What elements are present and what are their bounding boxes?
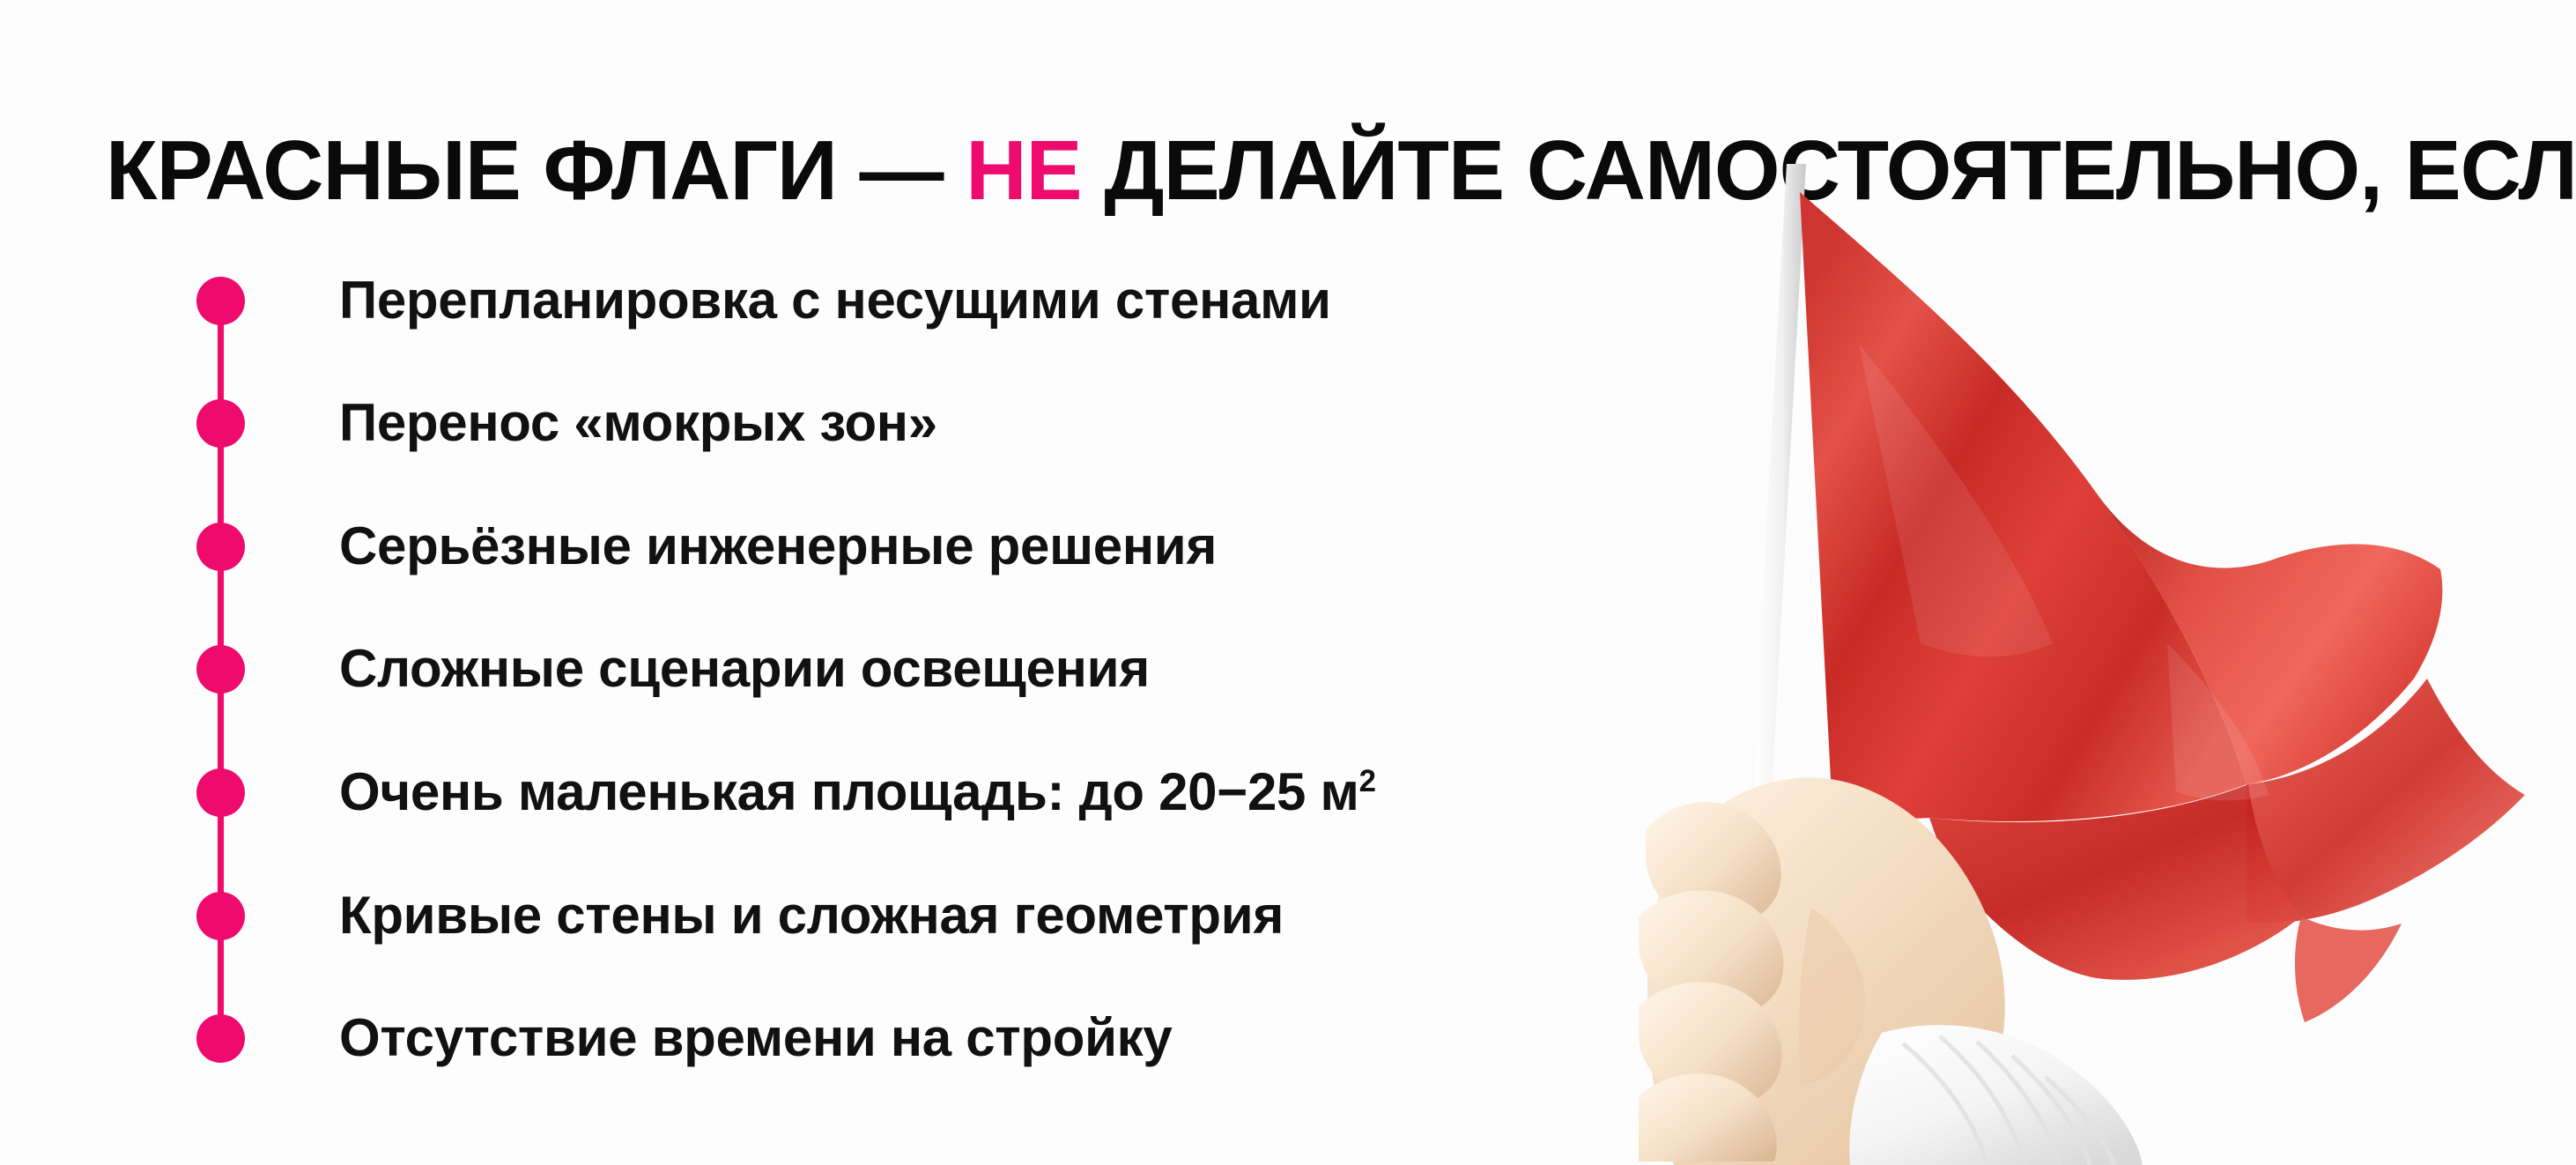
list-item-label: Серьёзные инженерные решения [339,510,1217,582]
bullet-dot-icon [196,892,245,940]
bullet-dot-icon [196,1014,245,1063]
bullet-dot-icon [196,277,245,325]
list-item: Серьёзные инженерные решения [0,510,1586,616]
list-item-label-text: Очень маленькая площадь: до 20−25 м [339,762,1359,821]
list-item: Отсутствие времени на стройку [0,1002,1586,1108]
bullet-dot-icon [196,768,245,817]
list-item: Перенос «мокрых зон» [0,387,1586,493]
list-item: Кривые стены и сложная геометрия [0,879,1586,985]
list-item: Очень маленькая площадь: до 20−25 м2 [0,756,1586,862]
bullet-dot-icon [196,399,245,448]
list-item-label: Отсутствие времени на стройку [339,1002,1172,1074]
page-title-part-1: КРАСНЫЕ ФЛАГИ — [106,123,966,218]
page-title-emphasis: НЕ [966,123,1081,218]
bullet-dot-icon [196,523,245,571]
list-item-label: Сложные сценарии освещения [339,633,1150,705]
list-item-label: Кривые стены и сложная геометрия [339,879,1284,952]
list-item-label-superscript: 2 [1359,764,1376,798]
slide-canvas: КРАСНЫЕ ФЛАГИ — НЕ ДЕЛАЙТЕ САМОСТОЯТЕЛЬН… [0,0,2576,1165]
list-item: Перепланировка с несущими стенами [0,264,1586,370]
shirt-cuff [1849,1025,2143,1165]
hand-holding-red-flag-illustration [1639,79,2576,1165]
bullet-dot-icon [196,645,245,694]
list-item-label: Перепланировка с несущими стенами [339,264,1331,337]
list-item-label: Очень маленькая площадь: до 20−25 м2 [339,756,1376,828]
red-flags-list: Перепланировка с несущими стенами Перено… [0,264,1586,1110]
list-item: Сложные сценарии освещения [0,633,1586,738]
list-item-label: Перенос «мокрых зон» [339,387,937,459]
